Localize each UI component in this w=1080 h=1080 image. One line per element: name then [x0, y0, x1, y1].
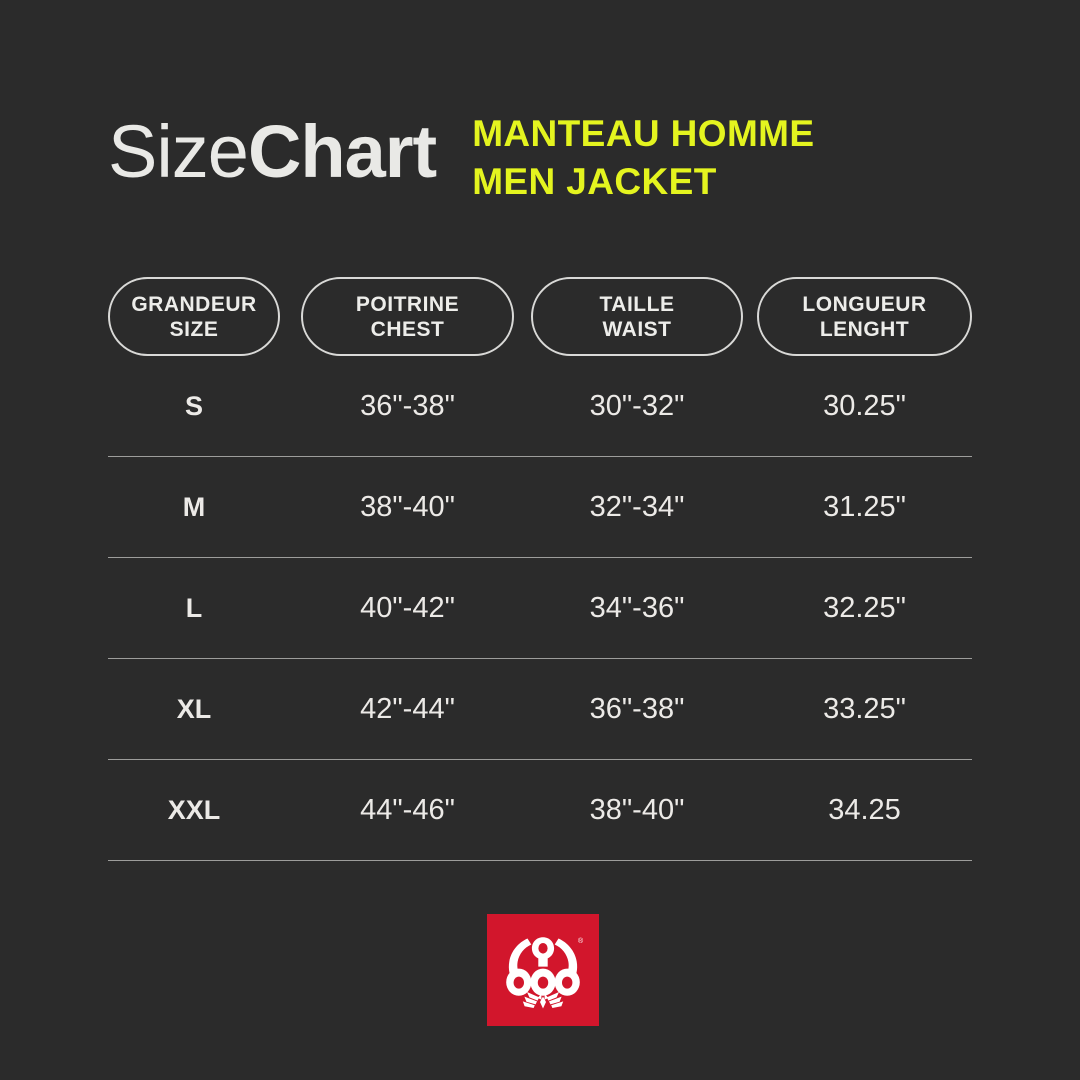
column-header-chest-line1: POITRINE	[356, 292, 459, 317]
column-header-chest-line2: CHEST	[371, 317, 445, 342]
cell-chest: 38"-40"	[301, 491, 514, 524]
cell-length: 31.25"	[757, 491, 972, 524]
cell-size: XL	[108, 694, 280, 725]
brand-logo-686: ®	[487, 914, 599, 1026]
cell-length: 32.25"	[757, 592, 972, 625]
size-chart-page: SizeChart MANTEAU HOMME MEN JACKET GRAND…	[0, 0, 1080, 1080]
cell-size: L	[108, 593, 280, 624]
column-header-length: LONGUEUR LENGHT	[757, 277, 972, 356]
page-subtitle: MANTEAU HOMME MEN JACKET	[472, 96, 814, 206]
cell-size: XXL	[108, 795, 280, 826]
cell-chest: 42"-44"	[301, 693, 514, 726]
page-header: SizeChart MANTEAU HOMME MEN JACKET	[108, 96, 988, 216]
cell-chest: 40"-42"	[301, 592, 514, 625]
cell-length: 34.25	[757, 794, 972, 827]
page-subtitle-en: MEN JACKET	[472, 158, 814, 206]
cell-chest: 36"-38"	[301, 390, 514, 423]
cell-waist: 30"-32"	[531, 390, 743, 423]
table-row: XL 42"-44" 36"-38" 33.25"	[108, 659, 972, 760]
page-title: SizeChart	[108, 96, 436, 208]
column-header-waist-line2: WAIST	[603, 317, 672, 342]
table-row: M 38"-40" 32"-34" 31.25"	[108, 457, 972, 558]
column-header-chest: POITRINE CHEST	[301, 277, 514, 356]
cell-waist: 38"-40"	[531, 794, 743, 827]
cell-length: 33.25"	[757, 693, 972, 726]
column-header-size-line1: GRANDEUR	[131, 292, 256, 317]
cell-chest: 44"-46"	[301, 794, 514, 827]
table-row: XXL 44"-46" 38"-40" 34.25	[108, 760, 972, 861]
cell-length: 30.25"	[757, 390, 972, 423]
cell-size: M	[108, 492, 280, 523]
cell-size: S	[108, 391, 280, 422]
cell-waist: 36"-38"	[531, 693, 743, 726]
logo-686-icon: ®	[493, 920, 593, 1020]
column-header-waist-line1: TAILLE	[600, 292, 675, 317]
column-header-waist: TAILLE WAIST	[531, 277, 743, 356]
cell-waist: 32"-34"	[531, 491, 743, 524]
table-row: L 40"-42" 34"-36" 32.25"	[108, 558, 972, 659]
column-header-length-line1: LONGUEUR	[802, 292, 926, 317]
table-row: S 36"-38" 30"-32" 30.25"	[108, 356, 972, 457]
page-title-bold: Chart	[248, 110, 436, 193]
cell-waist: 34"-36"	[531, 592, 743, 625]
page-title-light: Size	[108, 110, 248, 193]
table-header-row: GRANDEUR SIZE POITRINE CHEST TAILLE WAIS…	[108, 277, 972, 356]
column-header-size-line2: SIZE	[170, 317, 219, 342]
size-table: S 36"-38" 30"-32" 30.25" M 38"-40" 32"-3…	[108, 356, 972, 861]
page-subtitle-fr: MANTEAU HOMME	[472, 110, 814, 158]
column-header-size: GRANDEUR SIZE	[108, 277, 280, 356]
registered-trademark-mark: ®	[578, 937, 584, 945]
column-header-length-line2: LENGHT	[820, 317, 909, 342]
